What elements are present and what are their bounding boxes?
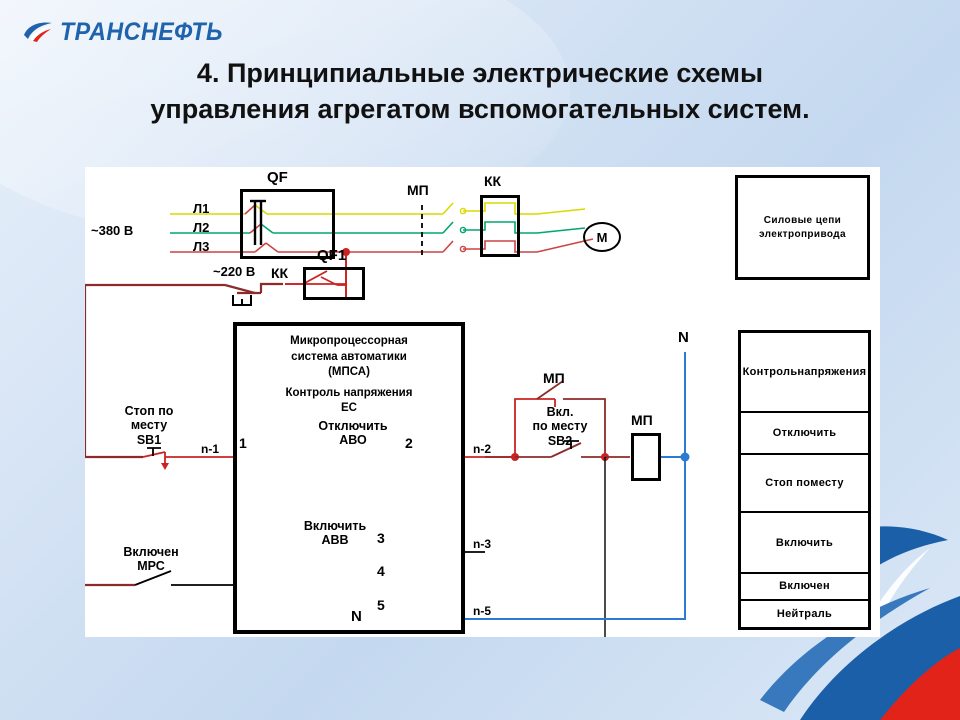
legend-row-3-line-2: месту — [810, 476, 844, 490]
legend-row-5: Включен — [741, 574, 868, 600]
mpsa-title-line1: Микропроцессорная — [237, 334, 461, 350]
contactor-mp-power-label: МП — [407, 182, 429, 198]
enable-avv-label: Включить АВВ — [285, 519, 385, 548]
phase-l1-label: Л1 — [193, 202, 209, 217]
enable-avv-line2: АВВ — [285, 533, 385, 547]
legend-row-1-line-1: Контроль — [743, 365, 798, 379]
breaker-qf1-label: QF1 — [317, 247, 346, 264]
motor-symbol: M — [583, 222, 621, 252]
net-n5-label: n-5 — [473, 605, 491, 619]
legend-row-2: Отключить — [741, 413, 868, 454]
legend-row-1-line-2: напряжения — [797, 365, 866, 379]
mrs-on-line2: МРС — [105, 559, 197, 573]
legend-row-2-line-1: Отключить — [773, 426, 837, 440]
legend-power-circuits: Силовые цепи электропривода — [735, 175, 870, 280]
mp-aux-contact-label: МП — [543, 370, 565, 386]
neutral-terminal-label: N — [351, 608, 362, 625]
breaker-qf-label: QF — [267, 169, 288, 186]
legend-power-line1: Силовые цепи — [764, 215, 841, 226]
thermal-relay-kk-box — [480, 195, 520, 257]
start-local-tag: SB2 — [515, 434, 605, 448]
legend-row-4-line-1: Включить — [776, 536, 833, 550]
mpsa-title-line2: система автоматики — [237, 350, 461, 366]
legend-row-1: Контрольнапряжения — [741, 333, 868, 413]
voltage-control-line2: ЕС — [237, 401, 461, 416]
stop-local-line2: месту — [103, 418, 195, 432]
schematic-canvas: M Микропроцессорная система автоматики (… — [85, 167, 880, 637]
page-title-line1: 4. Принципиальные электрические схемы — [40, 56, 920, 92]
breaker-qf1-box — [303, 267, 365, 300]
supply-220-label: ~220 В — [213, 265, 255, 280]
stop-local-sb1-label: Стоп по месту SB1 — [103, 404, 195, 447]
thermal-relay-kk-power-label: КК — [484, 173, 501, 189]
mpsa-title: Микропроцессорная система автоматики (МП… — [237, 334, 461, 381]
mrs-on-label: Включен МРС — [105, 545, 197, 574]
thermal-relay-kk-control-label: КК — [271, 265, 288, 281]
legend-power-line2: электропривода — [759, 229, 846, 240]
legend-row-4: Включить — [741, 513, 868, 574]
brand-logo-text: ТРАНСНЕФТЬ — [60, 18, 223, 47]
voltage-control-line1: Контроль напряжения — [237, 386, 461, 401]
legend-row-5-line-1: Включен — [779, 579, 830, 593]
slide-root: ТРАНСНЕФТЬ 4. Принципиальные электрическ… — [0, 0, 960, 720]
start-local-line2: по месту — [515, 419, 605, 433]
legend-signal-table: КонтрольнапряженияОтключитьСтоп поместуВ… — [738, 330, 871, 630]
start-local-line1: Вкл. — [515, 405, 605, 419]
terminal-1-label: 1 — [239, 435, 247, 451]
mpsa-title-line3: (МПСА) — [237, 365, 461, 381]
mpsa-automation-box: Микропроцессорная система автоматики (МП… — [233, 322, 465, 634]
transneft-swoosh-icon — [22, 20, 54, 46]
legend-row-6: Нейтраль — [741, 601, 868, 627]
voltage-control-label: Контроль напряжения ЕС — [237, 386, 461, 416]
legend-power-text: Силовые цепи электропривода — [759, 214, 846, 241]
phase-l2-label: Л2 — [193, 221, 209, 236]
start-local-sb2-label: Вкл. по месту SB2 — [515, 405, 605, 448]
disable-avo-label: Отключить АВО — [303, 419, 403, 448]
net-n3-label: n-3 — [473, 538, 491, 552]
brand-logo: ТРАНСНЕФТЬ — [22, 18, 235, 47]
supply-380-label: ~380 В — [91, 224, 133, 239]
legend-row-6-line-1: Нейтраль — [777, 607, 832, 621]
enable-avv-line1: Включить — [285, 519, 385, 533]
contactor-mp-coil-box — [631, 433, 661, 481]
net-n1-label: n-1 — [201, 443, 219, 457]
terminal-2-label: 2 — [405, 435, 413, 451]
page-title-line2: управления агрегатом вспомогательных сис… — [40, 92, 920, 128]
stop-local-line1: Стоп по — [103, 404, 195, 418]
legend-row-3-line-1: Стоп по — [765, 476, 810, 490]
stop-local-tag: SB1 — [103, 433, 195, 447]
mp-coil-label: МП — [631, 412, 653, 428]
mrs-on-line1: Включен — [105, 545, 197, 559]
net-n2-label: n-2 — [473, 443, 491, 457]
terminal-5-label: 5 — [377, 597, 385, 613]
disable-avo-line1: Отключить — [303, 419, 403, 433]
disable-avo-line2: АВО — [303, 433, 403, 447]
neutral-top-label: N — [678, 329, 689, 346]
terminal-3-label: 3 — [377, 530, 385, 546]
page-title: 4. Принципиальные электрические схемы уп… — [40, 56, 920, 127]
terminal-4-label: 4 — [377, 563, 385, 579]
legend-row-3: Стоп поместу — [741, 455, 868, 514]
phase-l3-label: Л3 — [193, 240, 209, 255]
